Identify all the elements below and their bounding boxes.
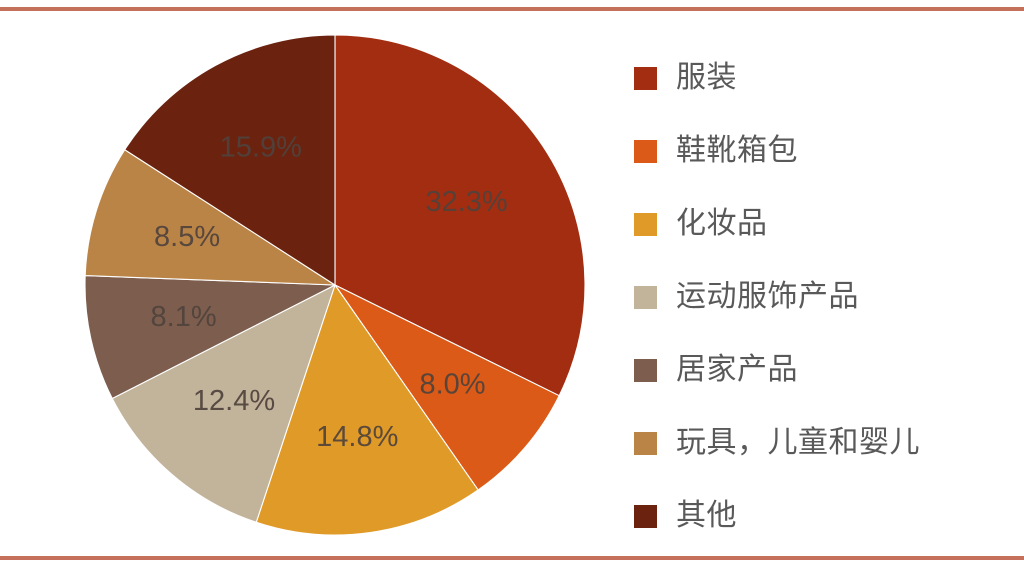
top-divider-rule	[0, 7, 1024, 11]
legend-swatch-icon	[634, 213, 657, 236]
pie-chart-canvas: 32.3%8.0%14.8%12.4%8.1%8.5%15.9%	[0, 14, 620, 554]
legend-item-label: 居家产品	[676, 355, 798, 385]
legend-item-label: 运动服饰产品	[676, 282, 859, 312]
chart-legend: 服装鞋靴箱包化妆品运动服饰产品居家产品玩具，儿童和婴儿其他	[634, 53, 1010, 541]
pie-chart: 32.3%8.0%14.8%12.4%8.1%8.5%15.9%	[0, 14, 620, 554]
pie-slice-label: 8.5%	[154, 221, 220, 253]
legend-swatch-icon	[634, 140, 657, 163]
legend-item-label: 玩具，儿童和婴儿	[676, 428, 920, 458]
legend-item[interactable]: 其他	[634, 491, 1010, 541]
legend-item[interactable]: 玩具，儿童和婴儿	[634, 418, 1010, 468]
bottom-divider-rule	[0, 556, 1024, 560]
pie-slice-label: 14.8%	[316, 421, 398, 453]
legend-item[interactable]: 化妆品	[634, 199, 1010, 249]
legend-swatch-icon	[634, 505, 657, 528]
legend-swatch-icon	[634, 432, 657, 455]
pie-slice-label: 8.1%	[151, 301, 217, 333]
legend-swatch-icon	[634, 286, 657, 309]
legend-item[interactable]: 居家产品	[634, 345, 1010, 395]
pie-slice-label: 12.4%	[193, 385, 275, 417]
pie-slice-label: 8.0%	[419, 369, 485, 401]
legend-item-label: 化妆品	[676, 209, 768, 239]
legend-item-label: 其他	[676, 501, 737, 531]
legend-item-label: 鞋靴箱包	[676, 136, 798, 166]
legend-item-label: 服装	[676, 63, 737, 93]
pie-slice-label: 15.9%	[220, 132, 302, 164]
legend-item[interactable]: 运动服饰产品	[634, 272, 1010, 322]
legend-item[interactable]: 鞋靴箱包	[634, 126, 1010, 176]
pie-slice-label: 32.3%	[425, 186, 507, 218]
pie-slice-group	[85, 35, 585, 535]
legend-swatch-icon	[634, 359, 657, 382]
legend-swatch-icon	[634, 67, 657, 90]
legend-item[interactable]: 服装	[634, 53, 1010, 103]
